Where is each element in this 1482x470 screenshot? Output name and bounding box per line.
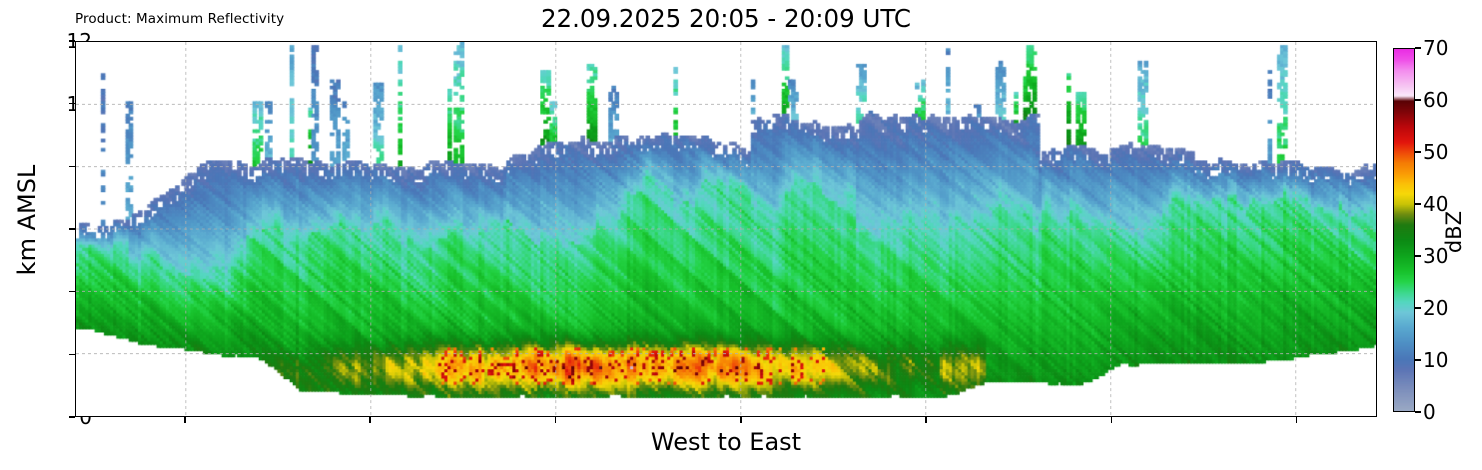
colorbar-tick-mark: [1415, 359, 1421, 361]
colorbar-tick-label: 50: [1423, 140, 1448, 164]
colorbar-tick-mark: [1415, 411, 1421, 413]
colorbar-tick-label: 20: [1423, 296, 1448, 320]
radar-reflectivity-heatmap: [76, 42, 1376, 416]
colorbar-tick-label: 0: [1423, 400, 1436, 424]
colorbar-tick-mark: [1415, 203, 1421, 205]
colorbar-tick-mark: [1415, 307, 1421, 309]
product-label: Product: Maximum Reflectivity: [75, 11, 284, 27]
x-axis-tick-mark: [184, 417, 186, 423]
plot-area[interactable]: [75, 41, 1377, 417]
x-axis-tick-mark: [740, 417, 742, 423]
colorbar-tick-label: 60: [1423, 88, 1448, 112]
x-axis-tick-mark: [369, 417, 371, 423]
radar-cross-section-figure: 22.09.2025 20:05 - 20:09 UTC Product: Ma…: [0, 0, 1482, 470]
colorbar-tick-label: 10: [1423, 348, 1448, 372]
x-axis-tick-mark: [555, 417, 557, 423]
colorbar-tick-mark: [1415, 99, 1421, 101]
colorbar-tick-mark: [1415, 255, 1421, 257]
colorbar-tick-mark: [1415, 47, 1421, 49]
x-axis-label: West to East: [75, 428, 1377, 456]
y-axis-label: km AMSL: [13, 120, 41, 320]
x-axis-tick-mark: [925, 417, 927, 423]
colorbar-gradient: [1393, 48, 1415, 412]
colorbar-tick-mark: [1415, 151, 1421, 153]
colorbar-unit-label: dBZ: [1442, 182, 1466, 282]
colorbar-tick-label: 70: [1423, 36, 1448, 60]
x-axis-tick-mark: [1111, 417, 1113, 423]
x-axis-tick-mark: [1296, 417, 1298, 423]
colorbar[interactable]: [1393, 48, 1415, 412]
